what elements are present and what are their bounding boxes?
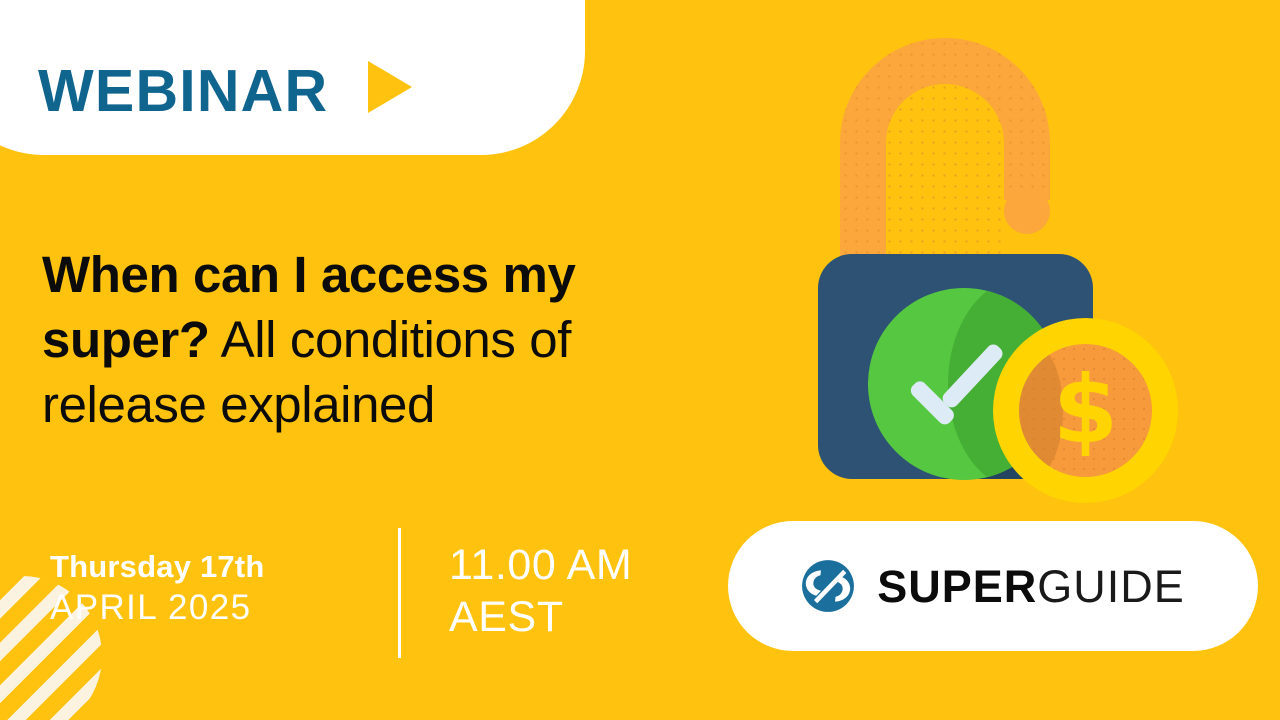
schedule-block: Thursday 17th APRIL 2025 11.00 AM AEST <box>50 528 632 658</box>
shackle-tip <box>1004 188 1050 234</box>
superguide-wordmark: SUPERGUIDE <box>877 564 1185 609</box>
webinar-label: WEBINAR <box>38 62 328 121</box>
open-padlock-illustration: $ <box>800 18 1200 498</box>
play-triangle-icon <box>368 61 412 113</box>
webinar-promo-canvas: WEBINAR When can I access my super? All … <box>0 0 1280 720</box>
logo-word-guide: GUIDE <box>1037 561 1185 612</box>
superguide-circle-s-icon <box>801 559 855 613</box>
dollar-symbol: $ <box>1053 364 1118 458</box>
schedule-divider <box>398 528 401 658</box>
date-weekday: Thursday 17th <box>50 548 398 586</box>
date-month-year: APRIL 2025 <box>50 586 398 630</box>
superguide-logo-pill: SUPERGUIDE <box>728 521 1258 651</box>
dollar-coin-icon: $ <box>993 318 1178 503</box>
webinar-time: 11.00 AM AEST <box>449 528 632 643</box>
logo-word-super: SUPER <box>877 561 1037 612</box>
coin-face: $ <box>1019 344 1152 477</box>
page-title: When can I access my super? All conditio… <box>42 243 742 437</box>
time-clock: 11.00 AM <box>449 540 632 592</box>
time-timezone: AEST <box>449 592 632 644</box>
webinar-badge: WEBINAR <box>0 0 585 155</box>
webinar-date: Thursday 17th APRIL 2025 <box>50 528 398 630</box>
